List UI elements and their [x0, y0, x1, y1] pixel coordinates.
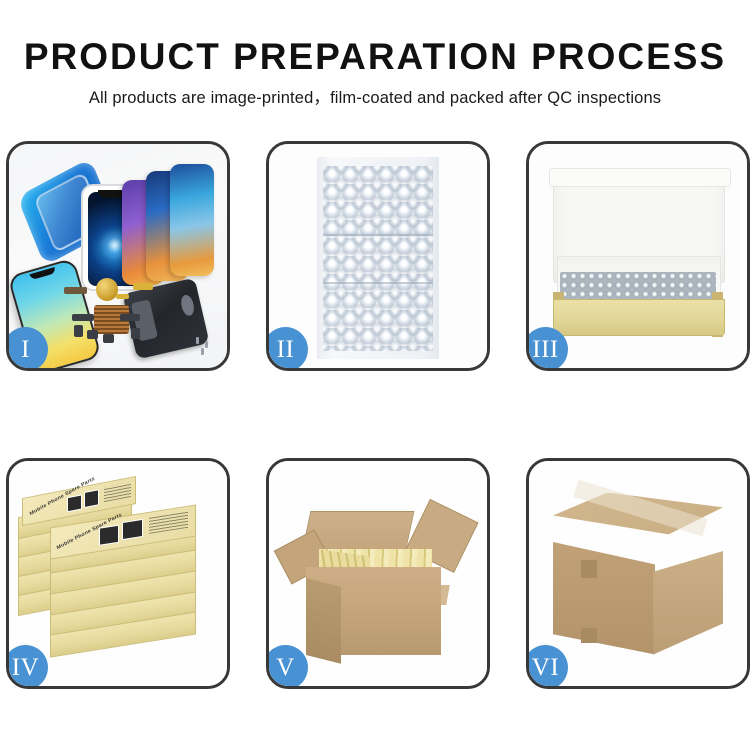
process-step-3[interactable]: III: [526, 141, 750, 371]
screw-icon: [201, 348, 204, 355]
process-step-grid: I II: [0, 0, 750, 750]
small-part-icon: [120, 314, 140, 321]
flex-cable-icon: [133, 283, 153, 290]
step-badge-1: I: [6, 327, 48, 371]
small-part-icon: [74, 325, 83, 336]
process-step-1[interactable]: I: [6, 141, 230, 371]
step-badge-4: IV: [6, 645, 48, 689]
small-part-icon: [131, 328, 140, 339]
step-badge-5: V: [266, 645, 308, 689]
small-part-icon: [64, 287, 88, 294]
small-part-icon: [87, 330, 98, 339]
small-part-icon: [103, 334, 114, 343]
bubble-wrap-icon: [317, 157, 439, 359]
box-stack-icon: Mobile Phone Spare Parts Mobile Phone: [18, 484, 219, 673]
flex-cable-icon: [116, 294, 129, 298]
screw-icon: [205, 341, 208, 348]
step-badge-6: VI: [526, 645, 568, 689]
carton-seal-icon: [581, 560, 596, 578]
speaker-part-icon: [96, 278, 118, 300]
product-preparation-page: PRODUCT PREPARATION PROCESS All products…: [0, 0, 750, 750]
box-front-icon: [553, 299, 725, 337]
bubble-wrap-icon: [560, 272, 717, 299]
phone-icon: [170, 164, 214, 276]
process-step-4[interactable]: Mobile Phone Spare Parts Mobile Phone: [6, 458, 230, 689]
carton-seal-icon: [581, 628, 596, 644]
process-step-5[interactable]: V: [266, 458, 490, 689]
process-step-6[interactable]: VI: [526, 458, 750, 689]
step-badge-3: III: [526, 327, 568, 371]
step-badge-2: II: [266, 327, 308, 371]
small-part-icon: [72, 314, 94, 321]
process-step-2[interactable]: II: [266, 141, 490, 371]
carton-side-icon: [306, 578, 341, 663]
